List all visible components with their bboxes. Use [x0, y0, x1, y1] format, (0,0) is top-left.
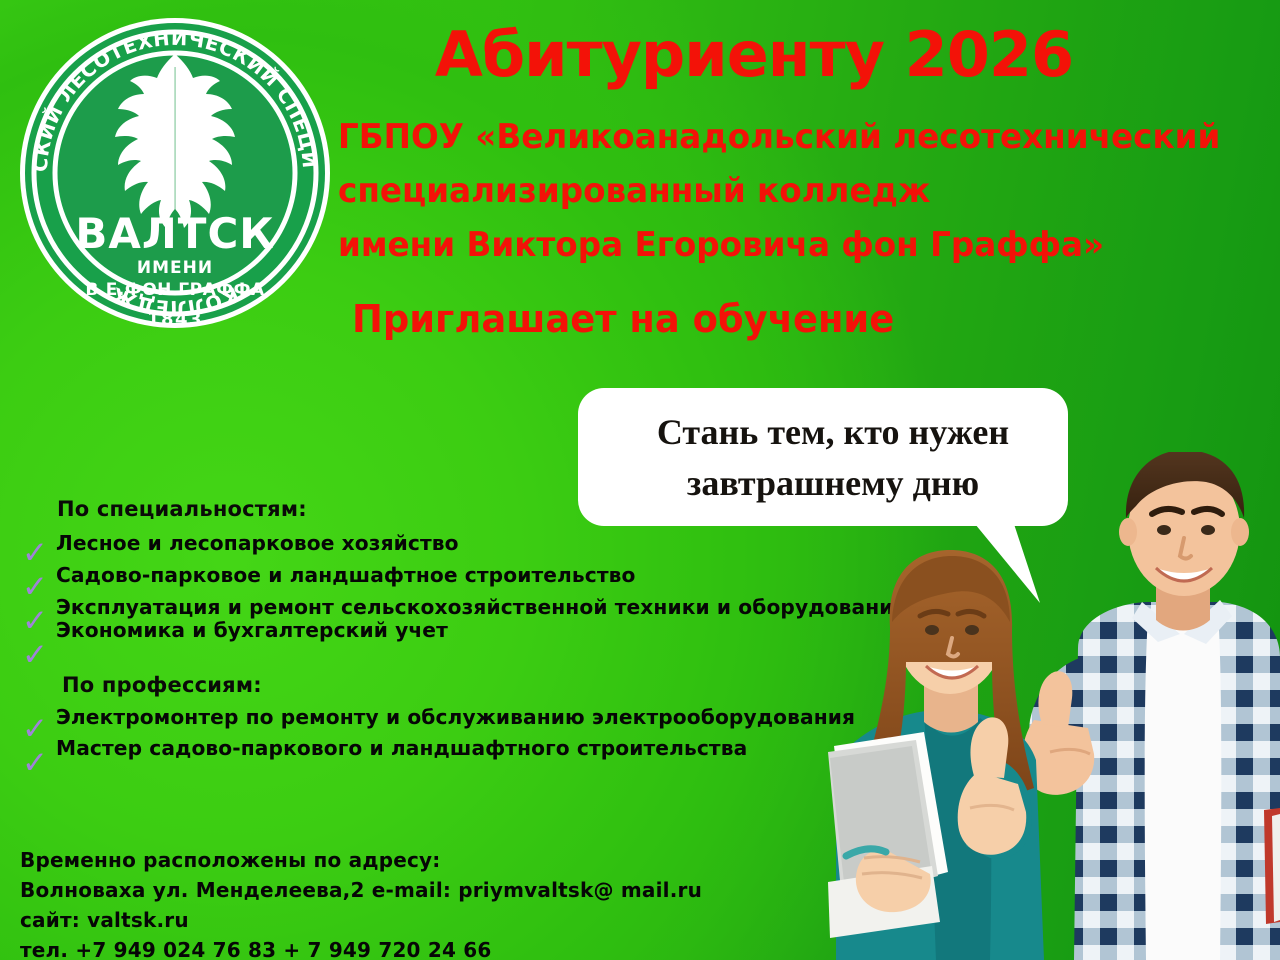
list-item: Мастер садово-паркового и ландшафтного с… [56, 736, 747, 760]
students-photo [828, 452, 1280, 960]
footer-address-label: Временно расположены по адресу: [20, 848, 440, 872]
check-icon: ✓ [20, 538, 50, 568]
bubble-line-1: Стань тем, кто нужен [657, 407, 1009, 458]
check-icon: ✓ [20, 640, 50, 670]
check-icon: ✓ [20, 606, 50, 636]
org-name-line-3: имени Виктора Егоровича фон Граффа» [338, 226, 1104, 264]
logo-year: 1843 [147, 309, 203, 330]
professions-heading: По профессиям: [62, 673, 262, 697]
logo-person: В.Е.ФОН ГРАФФА [85, 280, 265, 300]
student-boy [1022, 452, 1280, 960]
footer-address-email: Волноваха ул. Менделеева,2 e-mail: priym… [20, 878, 702, 902]
logo-acronym: ВАЛТСК [75, 209, 274, 258]
list-item: Эксплуатация и ремонт сельскохозяйственн… [56, 595, 907, 619]
footer-website: сайт: valtsk.ru [20, 908, 189, 932]
boy-white-tshirt [1145, 608, 1224, 960]
college-logo: ВЕЛИКОАНАДОЛЬСКИЙ ЛЕСОТЕХНИЧЕСКИЙ СПЕЦИА… [14, 12, 336, 334]
logo-imeni: ИМЕНИ [137, 258, 213, 278]
org-name-line-2: специализированный колледж [338, 172, 930, 210]
check-icon: ✓ [20, 572, 50, 602]
list-item: Лесное и лесопарковое хозяйство [56, 531, 459, 555]
specialties-heading: По специальностям: [57, 497, 307, 521]
admissions-poster: ВЕЛИКОАНАДОЛЬСКИЙ ЛЕСОТЕХНИЧЕСКИЙ СПЕЦИА… [0, 0, 1280, 960]
student-girl [828, 550, 1044, 960]
footer-phone: тел. +7 949 024 76 83 + 7 949 720 24 66 [20, 938, 491, 960]
list-item: Садово-парковое и ландшафтное строительс… [56, 563, 636, 587]
invitation-text: Приглашает на обучение [352, 300, 894, 338]
page-title: Абитуриенту 2026 [424, 24, 1084, 86]
org-name-line-1: ГБПОУ «Великоанадольский лесотехнический [338, 118, 1220, 156]
list-item: Экономика и бухгалтерский учет [56, 618, 448, 642]
list-item: Электромонтер по ремонту и обслуживанию … [56, 705, 855, 729]
check-icon: ✓ [20, 748, 50, 778]
check-icon: ✓ [20, 714, 50, 744]
boy-thumbs-up-icon [1038, 671, 1072, 728]
